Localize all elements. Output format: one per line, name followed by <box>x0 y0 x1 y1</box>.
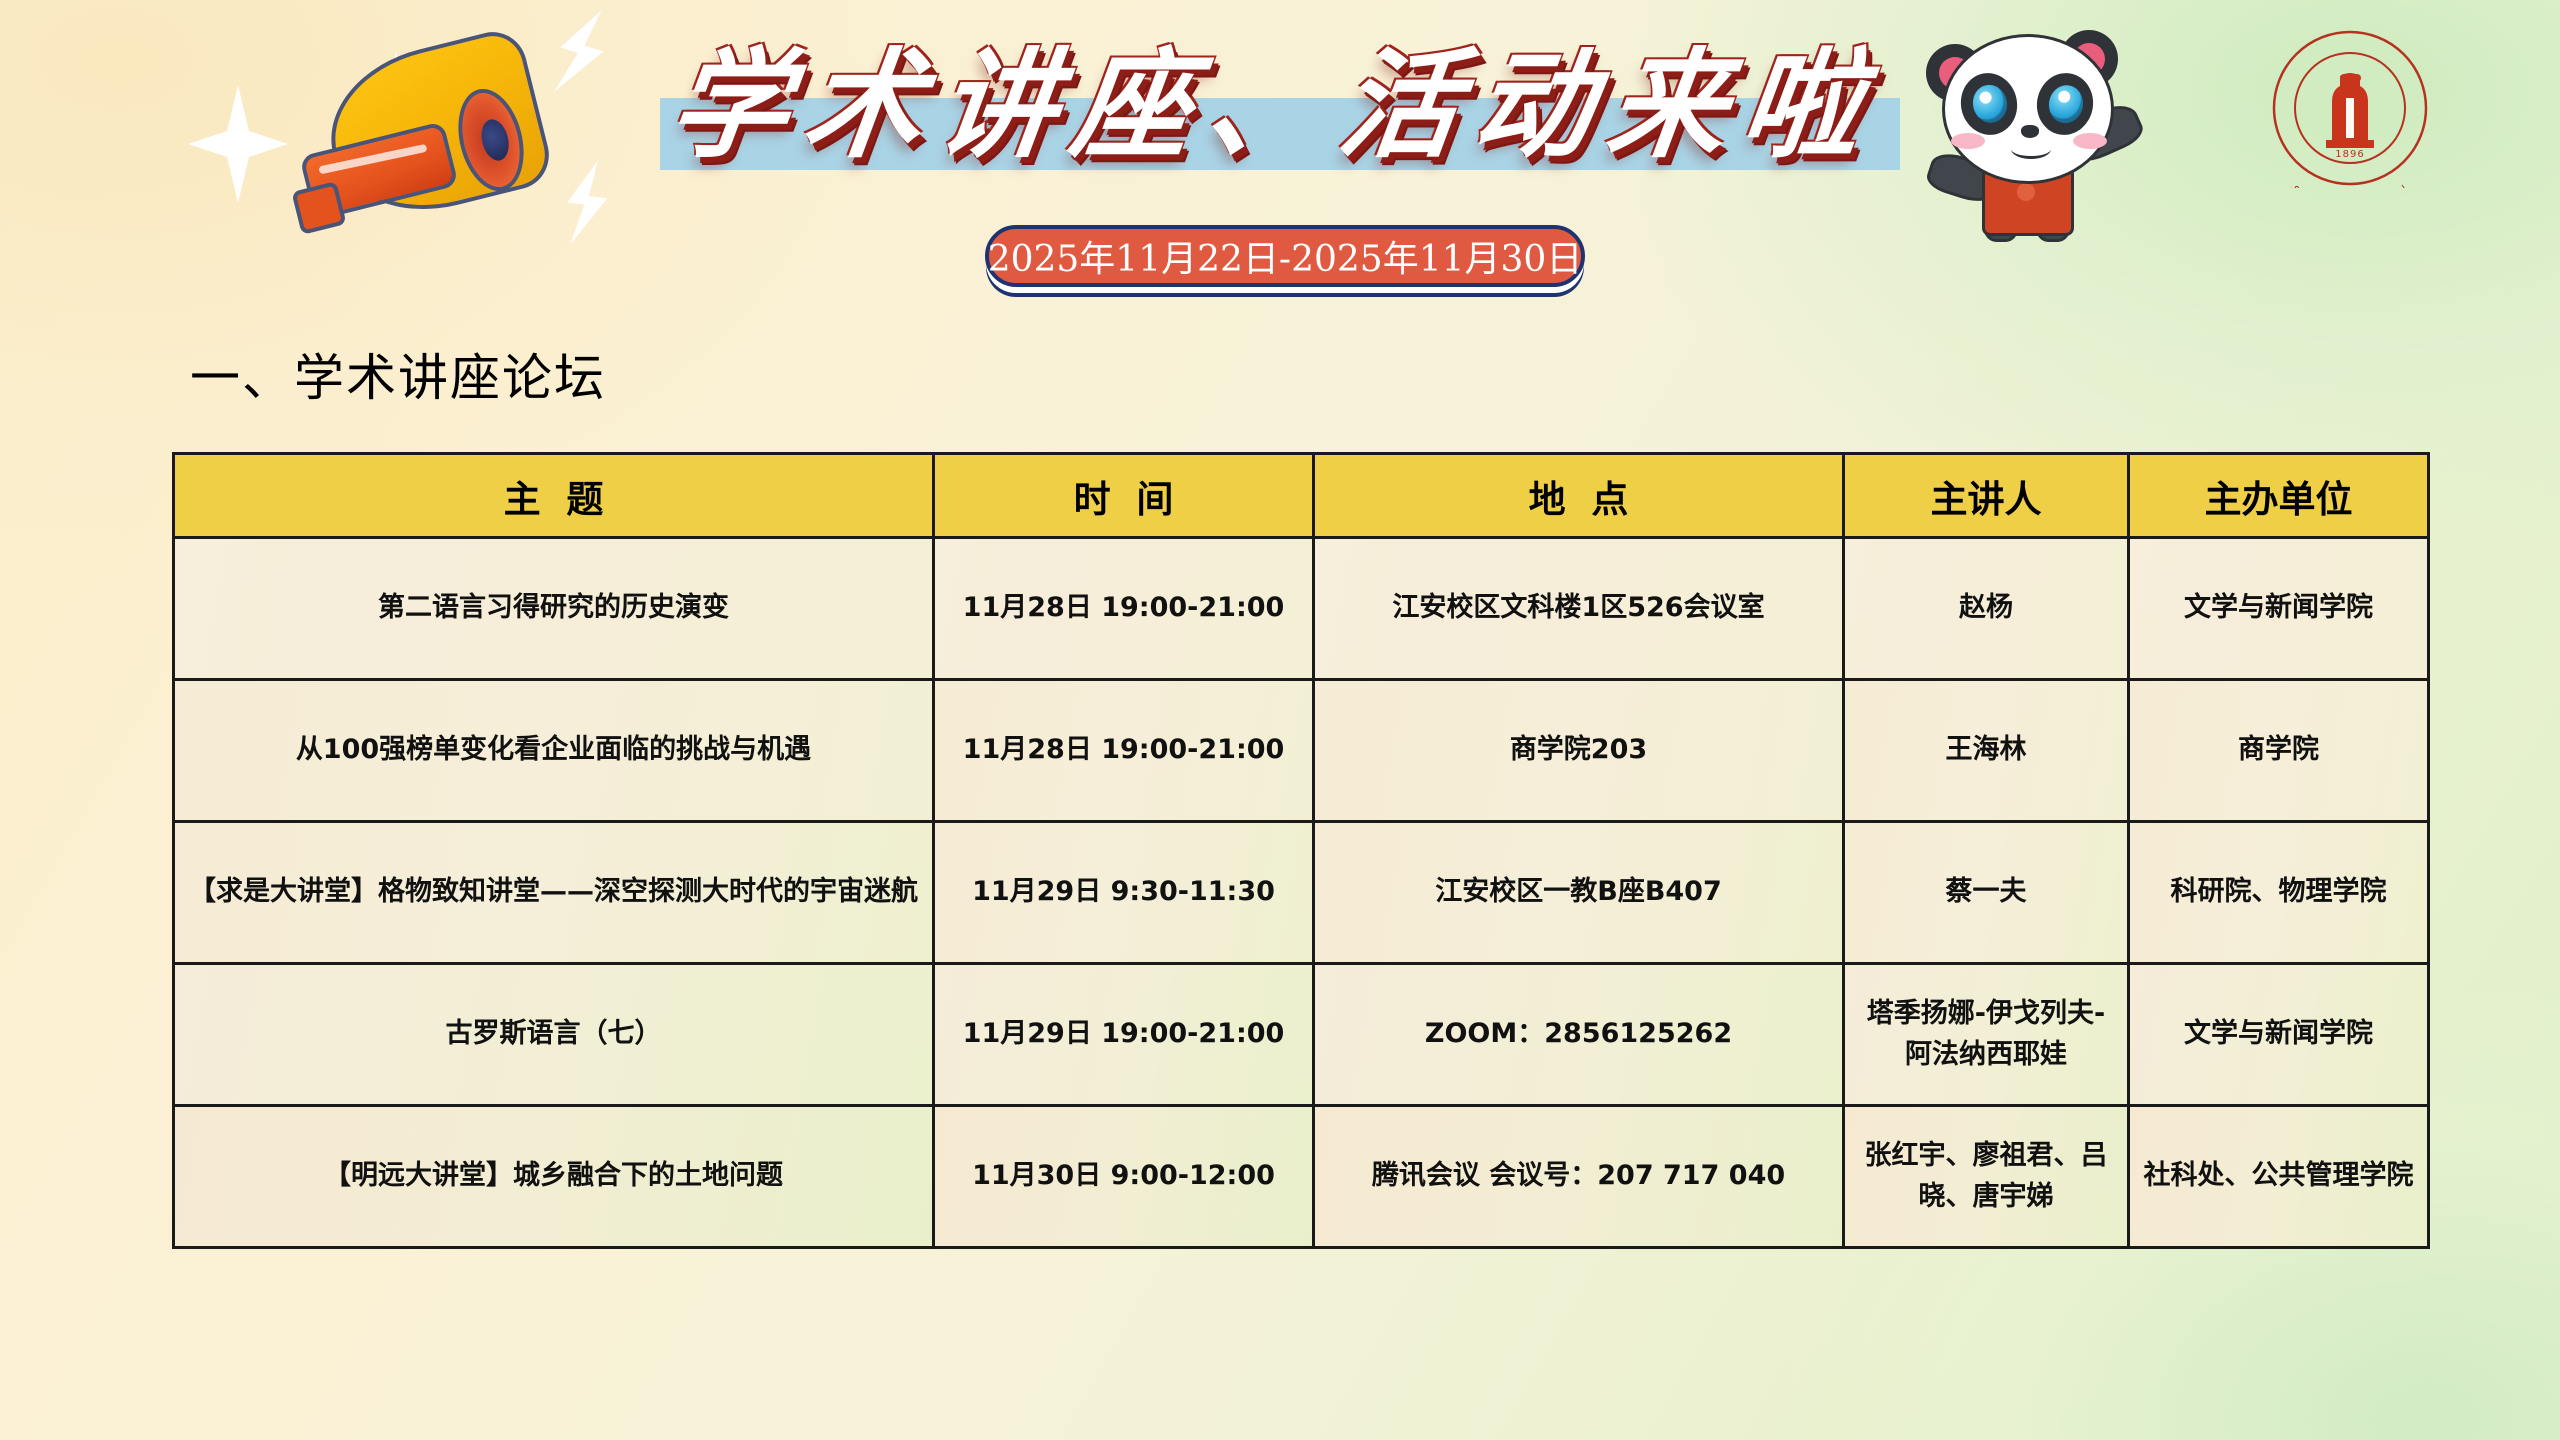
cell-time: 11月28日 19:00-21:00 <box>934 680 1314 822</box>
table-row: 【求是大讲堂】格物致知讲堂——深空探测大时代的宇宙迷航 11月29日 9:30-… <box>174 822 2429 964</box>
date-range-badge: 2025年11月22日-2025年11月30日 <box>985 225 1585 287</box>
cell-time: 11月30日 9:00-12:00 <box>934 1106 1314 1248</box>
lightning-bolt-icon <box>552 157 623 249</box>
cell-time: 11月29日 9:30-11:30 <box>934 822 1314 964</box>
panda-mascot-icon <box>1920 8 2140 228</box>
cell-topic: 【求是大讲堂】格物致知讲堂——深空探测大时代的宇宙迷航 <box>174 822 934 964</box>
table-row: 从100强榜单变化看企业面临的挑战与机遇 11月28日 19:00-21:00 … <box>174 680 2429 822</box>
table-row: 第二语言习得研究的历史演变 11月28日 19:00-21:00 江安校区文科楼… <box>174 538 2429 680</box>
cell-place: 腾讯会议 会议号：207 717 040 <box>1314 1106 1844 1248</box>
cell-speaker: 赵杨 <box>1844 538 2129 680</box>
page-title: 学术讲座、活动来啦 <box>660 30 1910 190</box>
svg-text:1896: 1896 <box>2335 149 2364 160</box>
sparkle-icon <box>188 85 288 203</box>
megaphone-icon <box>310 10 640 230</box>
cell-organizer: 文学与新闻学院 <box>2129 538 2429 680</box>
cell-topic: 古罗斯语言（七） <box>174 964 934 1106</box>
table-row: 古罗斯语言（七） 11月29日 19:00-21:00 ZOOM：2856125… <box>174 964 2429 1106</box>
cell-topic: 【明远大讲堂】城乡融合下的土地问题 <box>174 1106 934 1248</box>
cell-organizer: 社科处、公共管理学院 <box>2129 1106 2429 1248</box>
cell-place: 商学院203 <box>1314 680 1844 822</box>
date-range-label: 2025年11月22日-2025年11月30日 <box>988 230 1583 282</box>
cell-time: 11月29日 19:00-21:00 <box>934 964 1314 1106</box>
cell-organizer: 科研院、物理学院 <box>2129 822 2429 964</box>
column-header-organizer: 主办单位 <box>2129 454 2429 538</box>
column-header-place: 地 点 <box>1314 454 1844 538</box>
cell-speaker: 蔡一夫 <box>1844 822 2129 964</box>
cell-speaker: 张红宇、廖祖君、吕晓、唐宇娣 <box>1844 1106 2129 1248</box>
cell-organizer: 文学与新闻学院 <box>2129 964 2429 1106</box>
cell-place: 江安校区一教B座B407 <box>1314 822 1844 964</box>
cell-organizer: 商学院 <box>2129 680 2429 822</box>
table-row: 【明远大讲堂】城乡融合下的土地问题 11月30日 9:00-12:00 腾讯会议… <box>174 1106 2429 1248</box>
column-header-time: 时 间 <box>934 454 1314 538</box>
cell-place: 江安校区文科楼1区526会议室 <box>1314 538 1844 680</box>
cell-speaker: 塔季扬娜-伊戈列夫-阿法纳西耶娃 <box>1844 964 2129 1106</box>
poster-header: 学术讲座、活动来啦 2025年11月22日-2025年11月30日 四川大学 <box>0 0 2560 330</box>
cell-topic: 从100强榜单变化看企业面临的挑战与机遇 <box>174 680 934 822</box>
lightning-bolt-icon <box>535 0 626 106</box>
sichuan-university-logo: 四川大学 SICHUAN UNIVERSITY 1896 <box>2270 28 2430 188</box>
column-header-topic: 主 题 <box>174 454 934 538</box>
cell-time: 11月28日 19:00-21:00 <box>934 538 1314 680</box>
cell-speaker: 王海林 <box>1844 680 2129 822</box>
lecture-schedule-table: 主 题 时 间 地 点 主讲人 主办单位 第二语言习得研究的历史演变 11月28… <box>172 452 2427 1249</box>
table-header-row: 主 题 时 间 地 点 主讲人 主办单位 <box>174 454 2429 538</box>
column-header-speaker: 主讲人 <box>1844 454 2129 538</box>
cell-topic: 第二语言习得研究的历史演变 <box>174 538 934 680</box>
cell-place: ZOOM：2856125262 <box>1314 964 1844 1106</box>
section-heading: 一、学术讲座论坛 <box>190 338 606 410</box>
